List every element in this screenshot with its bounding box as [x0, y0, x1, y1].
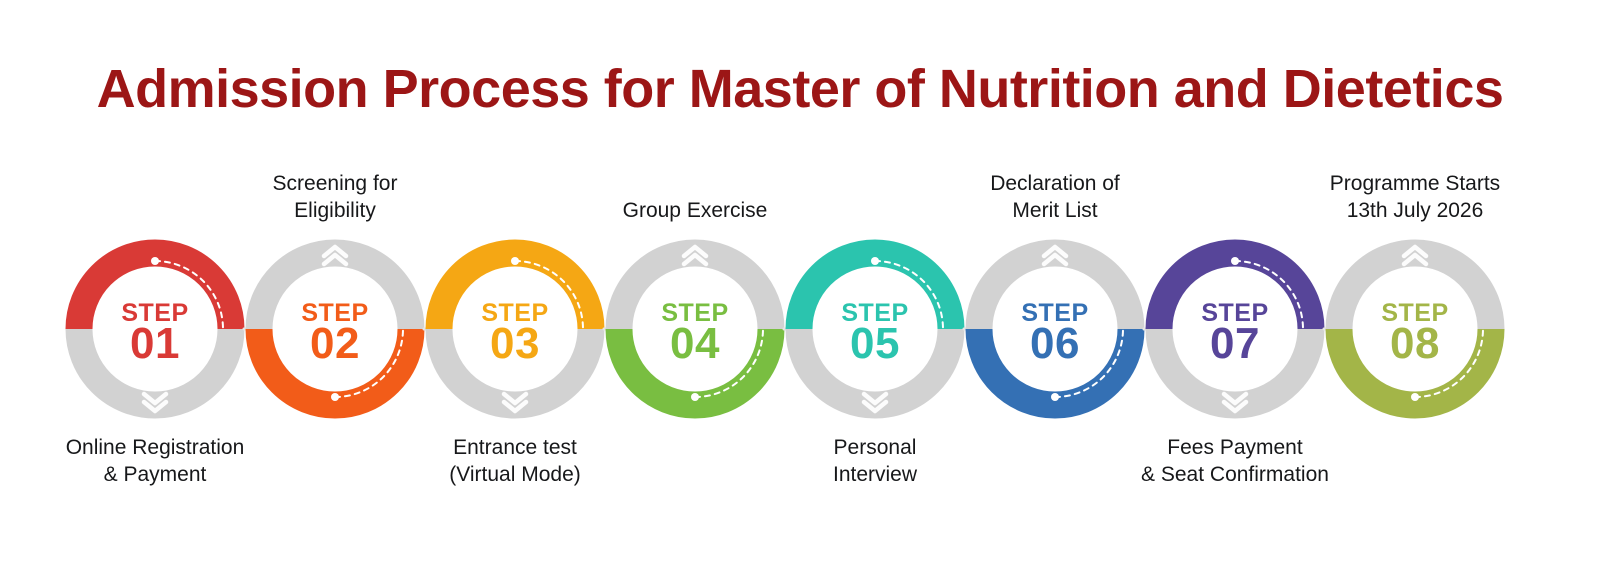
step-ring-08: STEP 08	[1322, 236, 1508, 422]
step-05[interactable]: STEP 05 Personal Interview	[782, 236, 968, 422]
step-ring-04: STEP 04	[602, 236, 788, 422]
step-ring-02: STEP 02	[242, 236, 428, 422]
step-ring-07: STEP 07	[1142, 236, 1328, 422]
page-title: Admission Process for Master of Nutritio…	[0, 58, 1600, 120]
step-01[interactable]: STEP 01 Online Registration & Payment	[62, 236, 248, 422]
step-ring-start-dot	[1411, 393, 1419, 401]
step-number-01: 01	[130, 319, 180, 368]
step-03[interactable]: STEP 03 Entrance test (Virtual Mode)	[422, 236, 608, 422]
step-ring-start-dot	[1051, 393, 1059, 401]
step-ring-start-dot	[511, 257, 519, 265]
step-ring-01: STEP 01	[62, 236, 248, 422]
step-number-06: 06	[1030, 319, 1080, 368]
step-caption-02: Screening for Eligibility	[175, 170, 495, 224]
step-caption-08: Programme Starts 13th July 2026	[1255, 170, 1575, 224]
step-number-05: 05	[850, 319, 900, 368]
step-number-02: 02	[310, 319, 360, 368]
step-04[interactable]: STEP 04 Group Exercise	[602, 236, 788, 422]
step-number-07: 07	[1210, 319, 1260, 368]
step-07[interactable]: STEP 07 Fees Payment & Seat Confirmation	[1142, 236, 1328, 422]
process-steps-strip: STEP 01 Online Registration & Payment ST…	[0, 236, 1600, 436]
step-02[interactable]: STEP 02 Screening for Eligibility	[242, 236, 428, 422]
step-06[interactable]: STEP 06 Declaration of Merit List	[962, 236, 1148, 422]
step-caption-06: Declaration of Merit List	[895, 170, 1215, 224]
step-caption-01: Online Registration & Payment	[0, 434, 315, 488]
step-caption-05: Personal Interview	[715, 434, 1035, 488]
step-ring-06: STEP 06	[962, 236, 1148, 422]
infographic-canvas: Admission Process for Master of Nutritio…	[0, 0, 1600, 583]
step-ring-start-dot	[151, 257, 159, 265]
step-caption-07: Fees Payment & Seat Confirmation	[1075, 434, 1395, 488]
step-ring-start-dot	[871, 257, 879, 265]
step-ring-start-dot	[331, 393, 339, 401]
step-08[interactable]: STEP 08 Programme Starts 13th July 2026	[1322, 236, 1508, 422]
step-number-03: 03	[490, 319, 540, 368]
step-ring-start-dot	[691, 393, 699, 401]
step-ring-start-dot	[1231, 257, 1239, 265]
step-caption-04: Group Exercise	[535, 197, 855, 224]
step-number-08: 08	[1390, 319, 1440, 368]
step-caption-03: Entrance test (Virtual Mode)	[355, 434, 675, 488]
step-ring-05: STEP 05	[782, 236, 968, 422]
step-number-04: 04	[670, 319, 720, 368]
step-ring-03: STEP 03	[422, 236, 608, 422]
